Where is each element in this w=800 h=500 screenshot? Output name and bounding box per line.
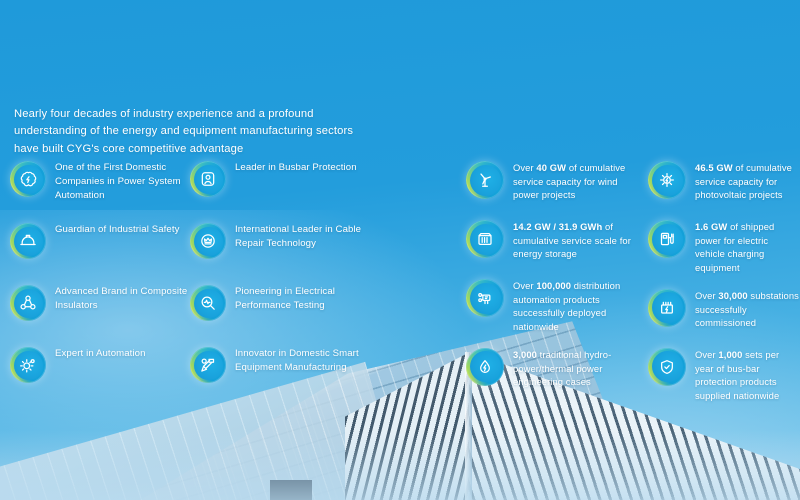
list-item[interactable]: Over 30,000 substations successfully com… xyxy=(648,288,800,334)
stat-value: 30,000 xyxy=(718,290,747,301)
distribution-automation-icon xyxy=(466,279,504,317)
list-item[interactable]: Innovator in Domestic Smart Equipment Ma… xyxy=(190,346,375,392)
stat-value: 100,000 xyxy=(536,280,571,291)
stat-value: 40 GW xyxy=(536,162,566,173)
list-item-label: Guardian of Industrial Safety xyxy=(55,222,180,237)
list-item[interactable]: International Leader in Cable Repair Tec… xyxy=(190,222,375,268)
list-item[interactable]: One of the First Domestic Companies in P… xyxy=(10,160,188,206)
list-item-label: One of the First Domestic Companies in P… xyxy=(55,160,188,203)
stat-value: 3,000 xyxy=(513,349,537,360)
stat-prefix: Over xyxy=(695,290,718,301)
list-item[interactable]: 1.6 GW of shipped power for electric veh… xyxy=(648,219,800,275)
stat-text: 46.5 GW of cumulative service capacity f… xyxy=(695,160,800,202)
stat-prefix: Over xyxy=(695,349,718,360)
shield-check-icon xyxy=(648,348,686,386)
list-item[interactable]: Guardian of Industrial Safety xyxy=(10,222,188,268)
list-item-label: Advanced Brand in Composite Insulators xyxy=(55,284,188,313)
list-item[interactable]: Over 100,000 distribution automation pro… xyxy=(466,278,646,334)
list-item[interactable]: Pioneering in Electrical Performance Tes… xyxy=(190,284,375,330)
list-item-label: Expert in Automation xyxy=(55,346,146,361)
stat-value: 14.2 GW / 31.9 GWh xyxy=(513,221,602,232)
qualifications-col-2: Leader in Busbar Protection Internationa… xyxy=(190,160,375,408)
busbar-shield-icon xyxy=(190,161,226,197)
brain-gear-power-icon xyxy=(10,161,46,197)
list-item[interactable]: Over 40 GW of cumulative service capacit… xyxy=(466,160,646,206)
list-item-label: Pioneering in Electrical Performance Tes… xyxy=(235,284,375,313)
hydro-thermal-drop-icon xyxy=(466,348,504,386)
waveform-magnifier-icon xyxy=(190,285,226,321)
list-item[interactable]: Over 1,000 sets per year of bus-bar prot… xyxy=(648,347,800,403)
stat-text: 1.6 GW of shipped power for electric veh… xyxy=(695,219,800,275)
stat-prefix: Over xyxy=(513,280,536,291)
intro-paragraph: Nearly four decades of industry experien… xyxy=(14,106,374,158)
list-item[interactable]: Expert in Automation xyxy=(10,346,188,392)
stat-value: 1.6 GW xyxy=(695,221,727,232)
stat-text: Over 1,000 sets per year of bus-bar prot… xyxy=(695,347,800,403)
stat-text: 14.2 GW / 31.9 GWh of cumulative service… xyxy=(513,219,646,261)
cable-crown-icon xyxy=(190,223,226,259)
substation-icon xyxy=(648,289,686,327)
stat-value: 1,000 xyxy=(718,349,742,360)
list-item-label: International Leader in Cable Repair Tec… xyxy=(235,222,375,251)
infographic-stage: Nearly four decades of industry experien… xyxy=(0,0,800,500)
stat-prefix: Over xyxy=(513,162,536,173)
list-item[interactable]: 46.5 GW of cumulative service capacity f… xyxy=(648,160,800,206)
hard-hat-icon xyxy=(10,223,46,259)
stats-col-3: Over 40 GW of cumulative service capacit… xyxy=(466,160,646,406)
list-item[interactable]: 3,000 traditional hydro-power/thermal po… xyxy=(466,347,646,393)
ev-charging-station-icon xyxy=(648,220,686,258)
list-item-label: Innovator in Domestic Smart Equipment Ma… xyxy=(235,346,375,375)
list-item[interactable]: Advanced Brand in Composite Insulators xyxy=(10,284,188,330)
stat-text: Over 100,000 distribution automation pro… xyxy=(513,278,646,334)
content-layer: Nearly four decades of industry experien… xyxy=(0,0,800,500)
stat-text: Over 40 GW of cumulative service capacit… xyxy=(513,160,646,202)
solar-photovoltaic-icon xyxy=(648,161,686,199)
wind-turbine-icon xyxy=(466,161,504,199)
list-item-label: Leader in Busbar Protection xyxy=(235,160,357,175)
gears-automation-icon xyxy=(10,347,46,383)
list-item[interactable]: 14.2 GW / 31.9 GWh of cumulative service… xyxy=(466,219,646,265)
smart-equipment-icon xyxy=(190,347,226,383)
list-item[interactable]: Leader in Busbar Protection xyxy=(190,160,375,206)
qualifications-col-1: One of the First Domestic Companies in P… xyxy=(10,160,188,408)
stat-text: Over 30,000 substations successfully com… xyxy=(695,288,800,330)
stat-value: 46.5 GW xyxy=(695,162,733,173)
energy-storage-battery-icon xyxy=(466,220,504,258)
insulator-molecule-icon xyxy=(10,285,46,321)
stat-text: 3,000 traditional hydro-power/thermal po… xyxy=(513,347,646,389)
stats-col-4: 46.5 GW of cumulative service capacity f… xyxy=(648,160,800,416)
